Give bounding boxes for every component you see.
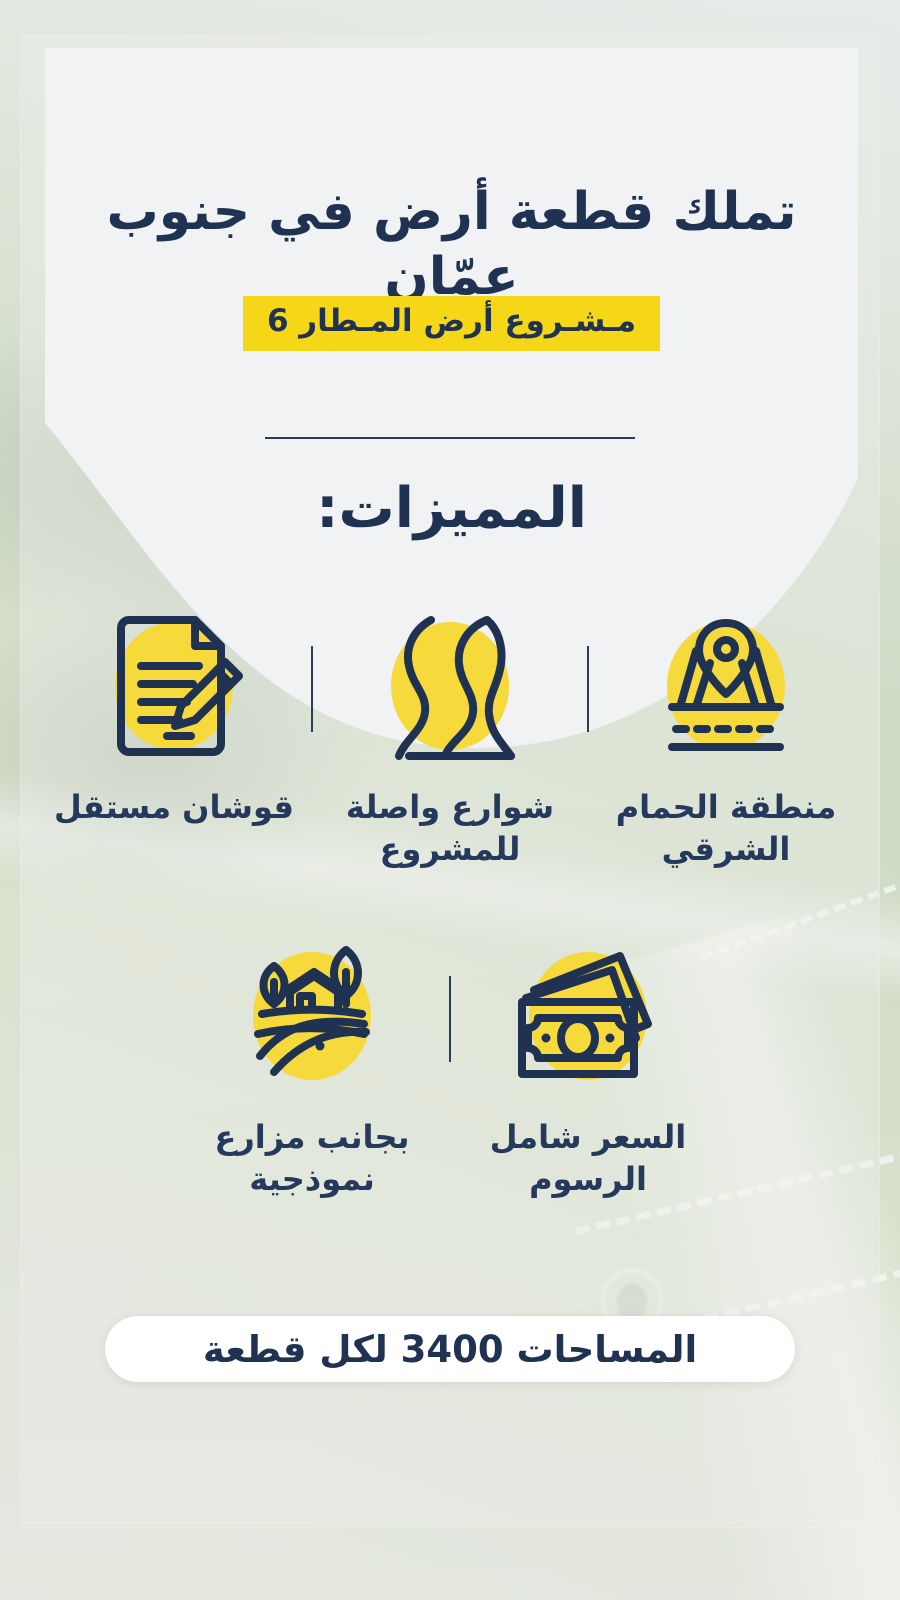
winding-road-icon [375,610,525,762]
document-pen-icon-box [89,600,259,772]
winding-road-icon-box [365,600,535,772]
feature-title-deed: قوشان مستقل [43,600,305,828]
feature-model-farms: بجانب مزارع نموذجية [181,930,443,1200]
project-badge-wrap: مـشـروع أرض المـطار 6 [45,296,858,351]
feature-label: منطقة الحمام الشرقي [603,786,849,870]
farm-field-icon [234,942,390,1090]
feature-label: السعر شامل الرسوم [465,1116,711,1200]
feature-separator [587,646,589,732]
farm-field-icon-box [227,930,397,1102]
feature-label: شوارع واصلة للمشروع [327,786,573,870]
feature-winding-road: شوارع واصلة للمشروع [319,600,581,870]
project-name-badge: مـشـروع أرض المـطار 6 [243,296,660,351]
feature-separator [449,976,451,1062]
area-banner: المساحات 3400 لكل قطعة [105,1316,795,1382]
poster-root: تملك قطعة أرض في جنوب عمّان مـشـروع أرض … [0,0,900,1600]
divider [265,437,635,439]
page-title: تملك قطعة أرض في جنوب عمّان [45,180,858,310]
feature-price-inclusive: السعر شامل الرسوم [457,930,719,1200]
map-pin-land-icon-box [641,600,811,772]
banknotes-icon-box [503,930,673,1102]
feature-label: قوشان مستقل [51,786,297,828]
features-section-title: المميزات: [45,476,858,541]
features-row-2: السعر شامل الرسوم [0,930,900,1200]
feature-label: بجانب مزارع نموذجية [189,1116,435,1200]
banknotes-icon [508,946,668,1086]
features-row-1: منطقة الحمام الشرقي شوارع واصلة للمشروع [0,600,900,870]
document-pen-icon [99,610,249,762]
feature-map-pin-land: منطقة الحمام الشرقي [595,600,857,870]
map-pin-land-icon [650,611,802,761]
feature-separator [311,646,313,732]
